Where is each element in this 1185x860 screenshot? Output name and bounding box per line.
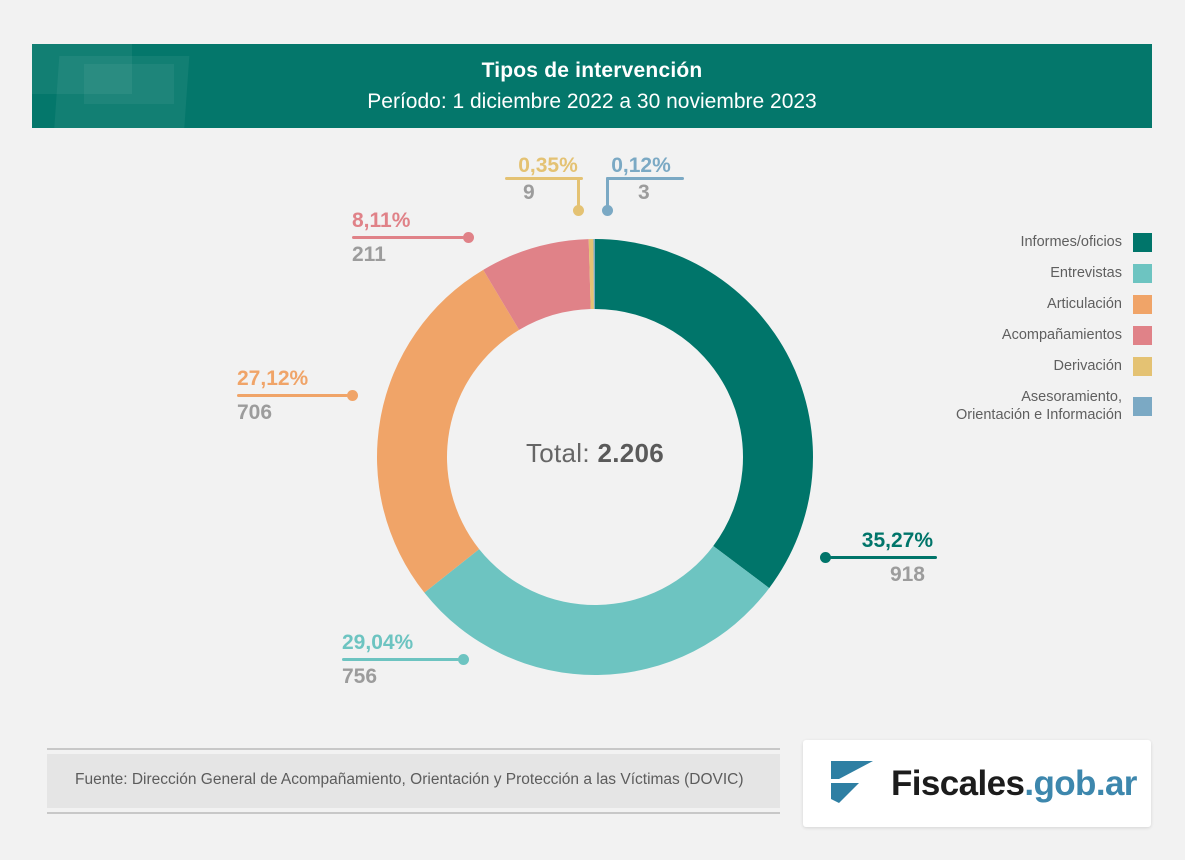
callout-asesoramiento: 0,12% 3 [598,155,684,217]
total-value: 2.206 [597,438,664,468]
leader-rule-horizontal [606,177,684,180]
callout-derivacion: 0,35% 9 [505,155,591,217]
callout-percentage: 0,35% [505,155,591,177]
callout-value: 211 [352,243,474,267]
callout-leader-line: 9 [505,177,591,217]
leader-rule [342,658,459,661]
donut-slice[interactable] [483,239,590,330]
legend-color-swatch [1133,264,1152,283]
leader-rule [237,394,348,397]
legend-item[interactable]: Acompañamientos [917,326,1152,345]
callout-entrevistas: 29,04% 756 [342,632,469,689]
source-note-text: Fuente: Dirección General de Acompañamie… [75,769,752,791]
legend-color-swatch [1133,397,1152,416]
legend-item[interactable]: Entrevistas [917,264,1152,283]
fiscales-logo-text: Fiscales.gob.ar [891,764,1137,804]
callout-leader-line: 3 [598,177,684,217]
leader-dot [602,205,613,216]
donut-center-total: Total: 2.206 [445,438,745,469]
legend-color-swatch [1133,295,1152,314]
callout-percentage: 0,12% [598,155,684,177]
source-note-box: Fuente: Dirección General de Acompañamie… [47,754,780,808]
logo-text-primary: Fiscales [891,764,1024,803]
page-title: Tipos de intervención [32,59,1152,82]
leader-rule-vertical [577,177,580,208]
callout-leader-line [820,552,937,563]
chart-header-banner: Tipos de intervención Período: 1 diciemb… [32,44,1152,128]
total-label: Total: [526,438,590,468]
legend-item[interactable]: Derivación [917,357,1152,376]
leader-dot [347,390,358,401]
logo-text-secondary: .gob.ar [1024,764,1136,803]
callout-value: 706 [237,401,358,425]
legend-item-label: Derivación [1054,357,1134,375]
donut-slice[interactable] [424,546,769,675]
legend-item[interactable]: Informes/oficios [917,233,1152,252]
header-text-group: Tipos de intervención Período: 1 diciemb… [32,44,1152,113]
callout-leader-line [342,654,469,665]
legend-item[interactable]: Asesoramiento,Orientación e Información [917,388,1152,424]
leader-dot [458,654,469,665]
callout-value: 756 [342,665,469,689]
leader-rule [352,236,464,239]
callout-informes-oficios: 35,27% 918 [820,530,937,587]
legend-item-label: Asesoramiento,Orientación e Información [956,388,1133,424]
callout-leader-line [352,232,474,243]
callout-value: 9 [523,181,535,205]
donut-slice[interactable] [593,239,595,309]
donut-slice[interactable] [595,239,813,588]
callout-percentage: 27,12% [237,368,358,390]
legend-color-swatch [1133,357,1152,376]
legend-color-swatch [1133,326,1152,345]
page-subtitle: Período: 1 diciembre 2022 a 30 noviembre… [32,90,1152,113]
legend-item-label: Entrevistas [1050,264,1133,282]
callout-percentage: 35,27% [820,530,937,552]
legend-item-label: Informes/oficios [1020,233,1133,251]
legend-item-label: Acompañamientos [1002,326,1133,344]
callout-value: 3 [638,181,650,205]
callout-articulacion: 27,12% 706 [237,368,358,425]
leader-dot [573,205,584,216]
callout-leader-line [237,390,358,401]
callout-value: 918 [820,563,937,587]
leader-elbow: 3 [598,177,684,217]
chart-legend: Informes/oficiosEntrevistasArticulaciónA… [917,233,1152,436]
fiscales-logo[interactable]: Fiscales.gob.ar [803,740,1151,827]
legend-item[interactable]: Articulación [917,295,1152,314]
source-note: Fuente: Dirección General de Acompañamie… [47,748,780,814]
donut-slice[interactable] [377,270,519,593]
leader-rule [830,556,937,559]
donut-slice[interactable] [589,239,594,309]
legend-item-label: Articulación [1047,295,1133,313]
fiscales-flag-icon [829,755,877,812]
callout-percentage: 8,11% [352,210,474,232]
leader-dot [463,232,474,243]
legend-color-swatch [1133,233,1152,252]
leader-rule-vertical [606,177,609,208]
callout-acompanamientos: 8,11% 211 [352,210,474,267]
callout-percentage: 29,04% [342,632,469,654]
leader-elbow: 9 [505,177,591,217]
leader-rule-horizontal [505,177,583,180]
